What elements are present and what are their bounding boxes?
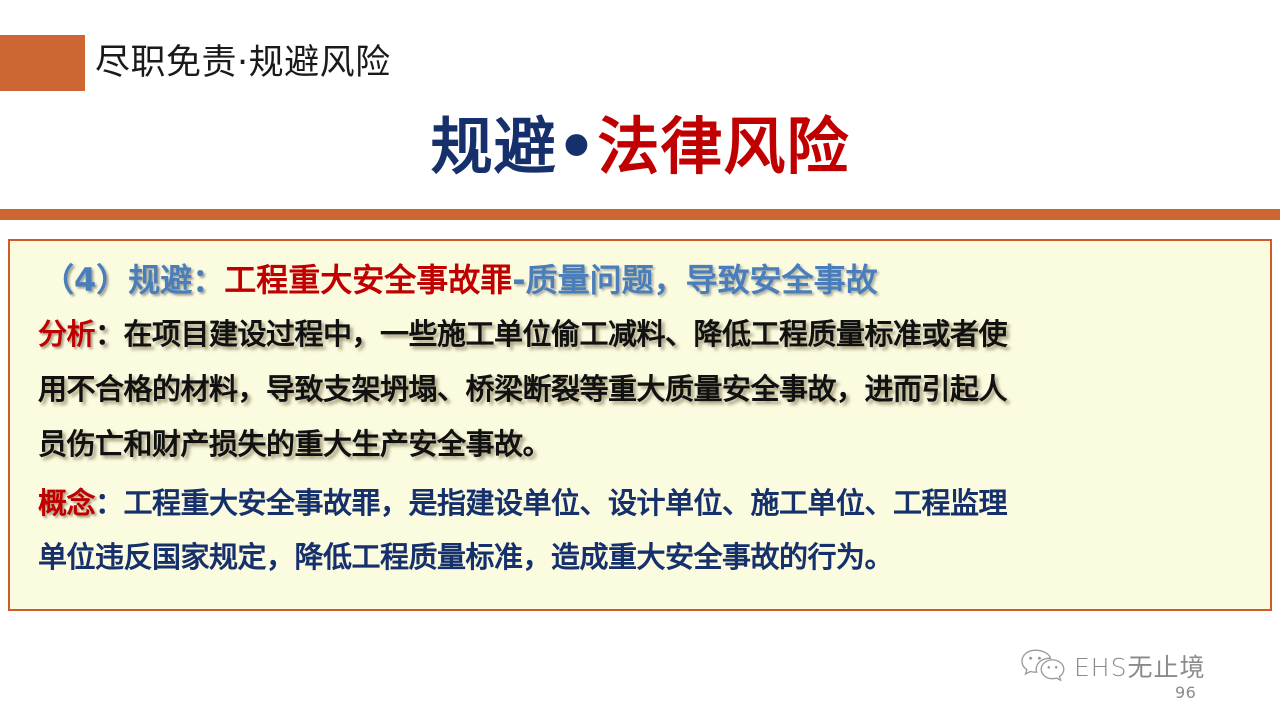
- analysis-text-line-3: 员伤亡和财产损失的重大生产安全事故。: [38, 427, 551, 461]
- divider-bar: [0, 209, 1280, 220]
- panel-headline: （4）规避：工程重大安全事故罪-质量问题，导致安全事故: [42, 260, 1256, 300]
- panel-headline-suffix: -质量问题，导致安全事故: [512, 261, 877, 299]
- header-accent-block: [0, 35, 85, 91]
- footer-brand: EHS无止境: [1020, 648, 1205, 684]
- header-title: 尽职免责·规避风险: [95, 36, 391, 90]
- concept-colon: ：: [95, 486, 124, 520]
- page-title-bullet: •: [557, 110, 598, 183]
- page-title-segment-red: 法律风险: [597, 110, 849, 183]
- analysis-line-2: 用不合格的材料，导致支架坍塌、桥梁断裂等重大质量安全事故，进而引起人: [38, 362, 1256, 417]
- analysis-label: 分析: [38, 317, 95, 351]
- slide-canvas: 尽职免责·规避风险 规避•法律风险 （4）规避：工程重大安全事故罪-质量问题，导…: [0, 0, 1280, 720]
- wechat-icon: [1020, 648, 1066, 684]
- concept-block: 概念：工程重大安全事故罪，是指建设单位、设计单位、施工单位、工程监理 单位违反国…: [38, 476, 1256, 584]
- analysis-line-1: 分析：在项目建设过程中，一些施工单位偷工减料、降低工程质量标准或者使: [38, 307, 1256, 362]
- analysis-line-3: 员伤亡和财产损失的重大生产安全事故。: [38, 417, 1256, 472]
- page-number: 96: [1175, 683, 1196, 702]
- concept-label: 概念: [38, 486, 95, 520]
- analysis-block: 分析：在项目建设过程中，一些施工单位偷工减料、降低工程质量标准或者使 用不合格的…: [38, 307, 1256, 472]
- content-panel: （4）规避：工程重大安全事故罪-质量问题，导致安全事故 分析：在项目建设过程中，…: [8, 239, 1272, 611]
- concept-text-line-2: 单位违反国家规定，降低工程质量标准，造成重大安全事故的行为。: [38, 540, 893, 574]
- analysis-colon: ：: [95, 317, 124, 351]
- panel-headline-prefix: （4）规避：: [42, 261, 224, 299]
- panel-headline-crime: 工程重大安全事故罪: [224, 261, 512, 299]
- concept-line-2: 单位违反国家规定，降低工程质量标准，造成重大安全事故的行为。: [38, 530, 1256, 584]
- page-title-segment-blue: 规避: [431, 110, 557, 183]
- analysis-text-line-1: 在项目建设过程中，一些施工单位偷工减料、降低工程质量标准或者使: [124, 317, 1008, 351]
- page-title: 规避•法律风险: [0, 104, 1280, 190]
- concept-line-1: 概念：工程重大安全事故罪，是指建设单位、设计单位、施工单位、工程监理: [38, 476, 1256, 530]
- concept-text-line-1: 工程重大安全事故罪，是指建设单位、设计单位、施工单位、工程监理: [124, 486, 1008, 520]
- footer-brand-text: EHS无止境: [1074, 648, 1205, 684]
- analysis-text-line-2: 用不合格的材料，导致支架坍塌、桥梁断裂等重大质量安全事故，进而引起人: [38, 372, 1007, 406]
